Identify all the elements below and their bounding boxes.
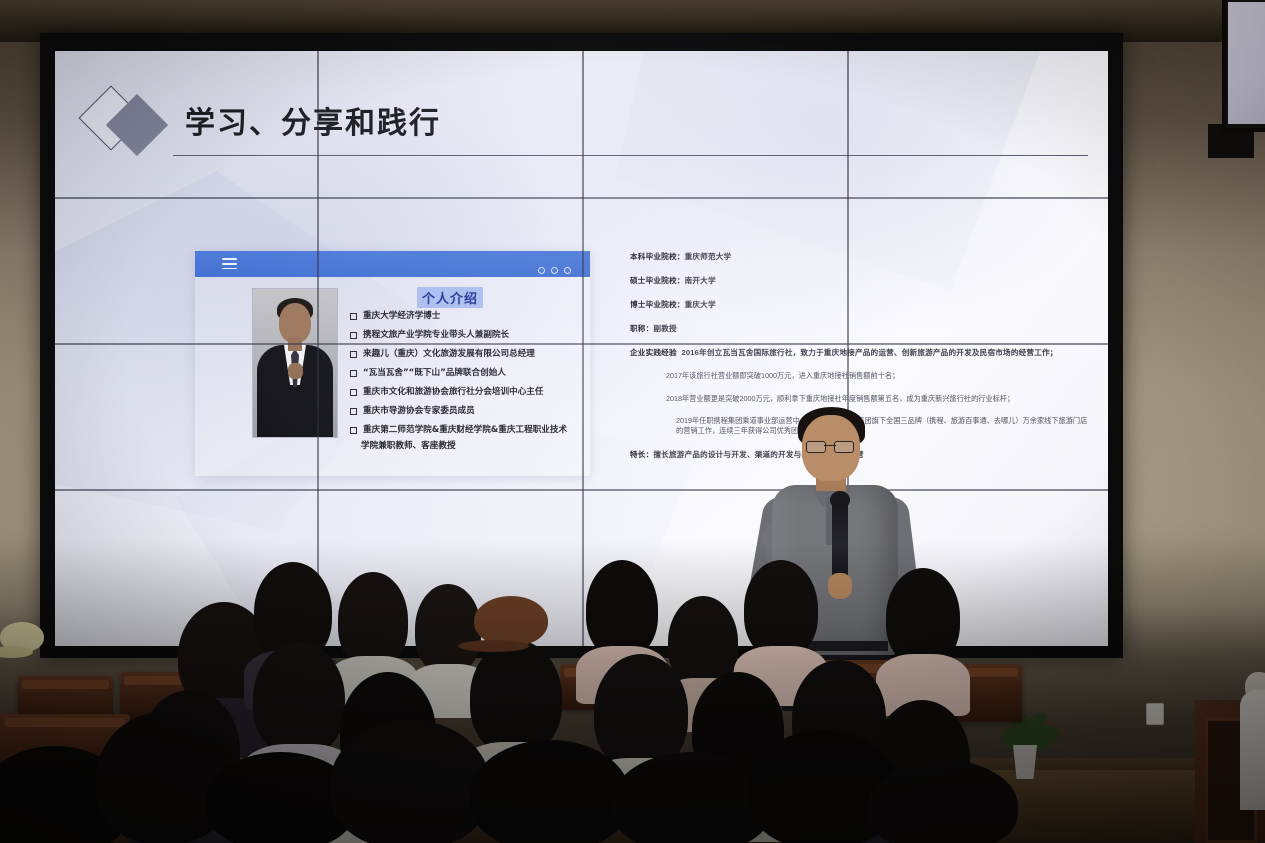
list-item-label: 来趣儿（重庆）文化旅游发展有限公司总经理 (363, 349, 535, 360)
detail-row: 博士毕业院校：重庆大学 (630, 299, 1090, 310)
list-item: 重庆市导游协会专家委员成员 (350, 406, 582, 417)
bullet-square-icon (350, 351, 357, 358)
presenter-mic-hand (828, 573, 852, 599)
video-wall: 学习、分享和践行 (40, 33, 1123, 658)
detail-row: 职称：副教授 (630, 323, 1090, 334)
audience-member (338, 572, 408, 688)
bullet-square-icon (350, 313, 357, 320)
list-item: 携程文旅产业学院专业带头人兼副院长 (350, 330, 582, 341)
detail-value: 重庆师范大学 (685, 252, 732, 261)
detail-value: 南开大学 (685, 276, 716, 285)
brown-cap (474, 596, 548, 646)
list-item: 来趣儿（重庆）文化旅游发展有限公司总经理 (350, 349, 582, 360)
list-item: 重庆第二师范学院&重庆财经学院&重庆工程职业技术 (350, 425, 582, 436)
person-in-white (1240, 690, 1265, 810)
audience-member (470, 740, 630, 843)
hamburger-icon[interactable] (222, 258, 237, 270)
detail-label: 职称： (630, 324, 653, 333)
list-item: 重庆大学经济学博士 (350, 311, 582, 322)
audience-member (868, 760, 1018, 843)
slide-title: 学习、分享和践行 (185, 98, 441, 142)
detail-value: 重庆大学 (685, 300, 716, 309)
microphone-head-icon (830, 491, 850, 509)
wall-outlet (1146, 703, 1164, 725)
experience-item: 2018年营业额更是突破2000万元，顺利拿下重庆地接社年度销售额第五名，成为重… (666, 394, 1090, 404)
panel-bezel-horizontal (55, 343, 1108, 345)
panel-bezel-vertical (582, 51, 584, 646)
cream-cap (0, 622, 44, 652)
list-item-label: 重庆市导游协会专家委员成员 (363, 406, 475, 417)
lecture-hall-scene: 学习、分享和践行 (0, 0, 1265, 843)
detail-row: 本科毕业院校：重庆师范大学 (630, 251, 1090, 262)
detail-label: 硕士毕业院校： (630, 276, 685, 285)
list-item-label: 携程文旅产业学院专业带头人兼副院长 (363, 330, 509, 341)
list-item: “瓦当瓦舍”“既下山”品牌联合创始人 (350, 368, 582, 379)
profile-card: 个人介绍 重庆大学经济学博士 携程文旅产业学院专业带头人兼副院长 来趣儿（重庆）… (195, 251, 590, 476)
bullet-square-icon (350, 408, 357, 415)
eyeglasses-icon (806, 441, 854, 451)
experience-label: 企业实践经验 (630, 348, 677, 357)
bullet-square-icon (350, 389, 357, 396)
detail-value: 副教授 (653, 324, 676, 333)
list-item-continuation: 学院兼职教师、客座教授 (361, 439, 582, 451)
list-item-label: 重庆市文化和旅游协会旅行社分会培训中心主任 (363, 387, 543, 398)
three-dots-icon[interactable] (532, 261, 576, 268)
list-item: 重庆市文化和旅游协会旅行社分会培训中心主任 (350, 387, 582, 398)
detail-row: 硕士毕业院校：南开大学 (630, 275, 1090, 286)
slide-header: 学习、分享和践行 (73, 79, 1073, 165)
auxiliary-display (1222, 0, 1265, 132)
specialty-label: 特长： (630, 450, 653, 459)
experience-row: 企业实践经验 2016年创立瓦当瓦舍国际旅行社，致力于重庆地接产品的运营、创新旅… (630, 347, 1090, 358)
list-item-label: “瓦当瓦舍”“既下山”品牌联合创始人 (363, 368, 506, 379)
experience-lead: 2016年创立瓦当瓦舍国际旅行社，致力于重庆地接产品的运营、创新旅游产品的开发及… (681, 348, 1057, 357)
list-item-label: 重庆第二师范学院&重庆财经学院&重庆工程职业技术 (363, 425, 567, 436)
experience-item: 2017年该旅行社营业额即突破1000万元，进入重庆地接社销售额前十名； (666, 371, 1090, 381)
list-item-label: 重庆大学经济学博士 (363, 311, 440, 322)
video-wall-screen: 学习、分享和践行 (55, 51, 1108, 646)
title-divider (173, 155, 1088, 156)
bullet-square-icon (350, 370, 357, 377)
audience-member (886, 568, 960, 688)
bullet-square-icon (350, 427, 357, 434)
panel-bezel-vertical (317, 51, 319, 646)
detail-label: 博士毕业院校： (630, 300, 685, 309)
portrait-photo (253, 289, 337, 437)
card-titlebar (195, 251, 590, 277)
card-section-title: 个人介绍 (417, 287, 483, 308)
audience-member (330, 720, 490, 843)
panel-bezel-horizontal (55, 489, 1108, 491)
panel-bezel-horizontal (55, 197, 1108, 199)
detail-label: 本科毕业院校： (630, 252, 685, 261)
bullet-square-icon (350, 332, 357, 339)
credentials-list: 重庆大学经济学博士 携程文旅产业学院专业带头人兼副院长 来趣儿（重庆）文化旅游发… (350, 311, 582, 459)
